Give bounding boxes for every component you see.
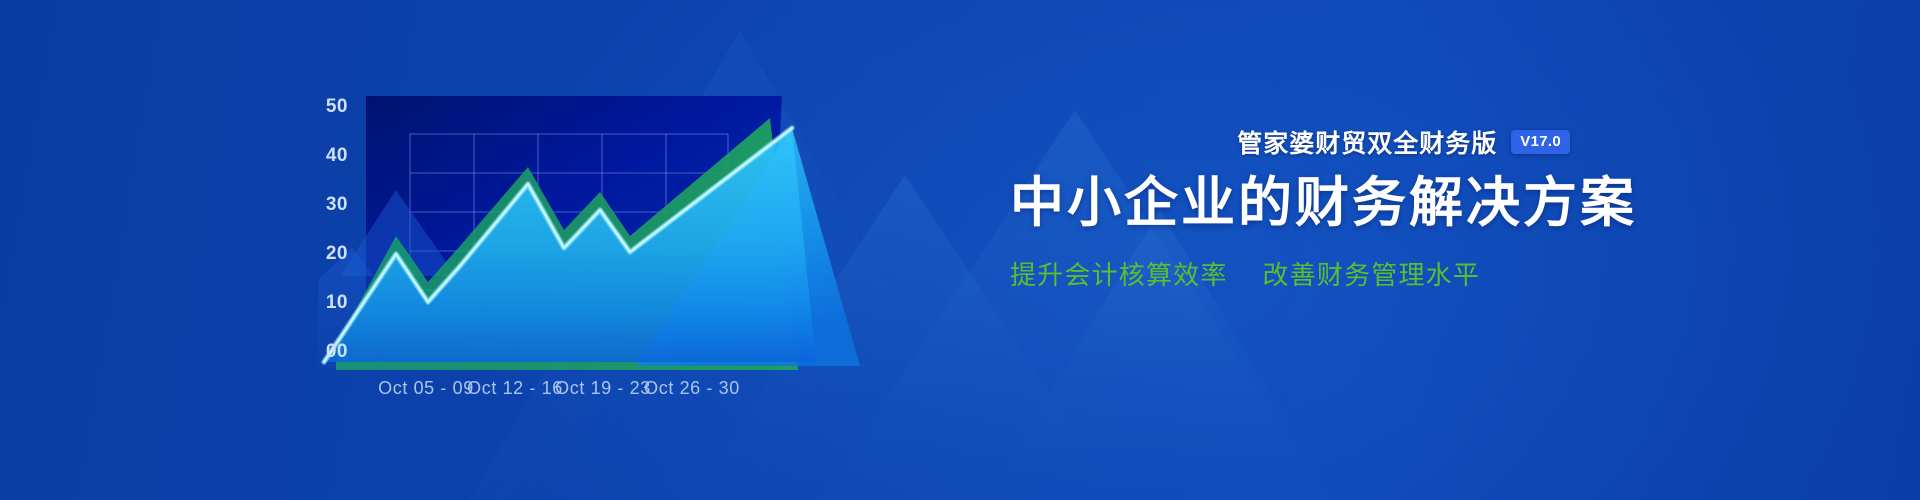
y-tick-label: 30 — [326, 194, 348, 215]
y-tick-label: 50 — [326, 96, 348, 117]
product-name: 管家婆财贸双全财务版 — [1237, 124, 1497, 160]
y-tick-label: 10 — [326, 292, 348, 313]
page-title: 中小企业的财务解决方案 — [1010, 173, 1570, 233]
x-tick-label: Oct 19 - 23 — [555, 378, 651, 398]
product-name-row: 管家婆财贸双全财务版 V17.0 — [1010, 125, 1570, 159]
x-tick-label: Oct 26 - 30 — [644, 378, 740, 398]
chart-illustration: 50 40 30 20 10 00 Oct 05 - 09 Oct 12 - 1… — [300, 70, 1000, 410]
y-tick-label: 00 — [326, 341, 348, 362]
banner-copy: 管家婆财贸双全财务版 V17.0 中小企业的财务解决方案 提升会计核算效率 改善… — [1010, 125, 1570, 292]
tagline: 提升会计核算效率 改善财务管理水平 — [1010, 255, 1570, 292]
tagline-part-1: 提升会计核算效率 — [1010, 260, 1228, 290]
x-tick-label: Oct 12 - 16 — [467, 378, 563, 398]
tagline-part-2: 改善财务管理水平 — [1262, 260, 1480, 290]
promo-banner: 50 40 30 20 10 00 Oct 05 - 09 Oct 12 - 1… — [0, 0, 1920, 500]
y-tick-label: 40 — [326, 145, 348, 166]
chart-x-axis: Oct 05 - 09 Oct 12 - 16 Oct 19 - 23 Oct … — [378, 378, 740, 398]
version-badge: V17.0 — [1511, 130, 1570, 154]
x-tick-label: Oct 05 - 09 — [378, 378, 474, 398]
y-tick-label: 20 — [326, 243, 348, 264]
